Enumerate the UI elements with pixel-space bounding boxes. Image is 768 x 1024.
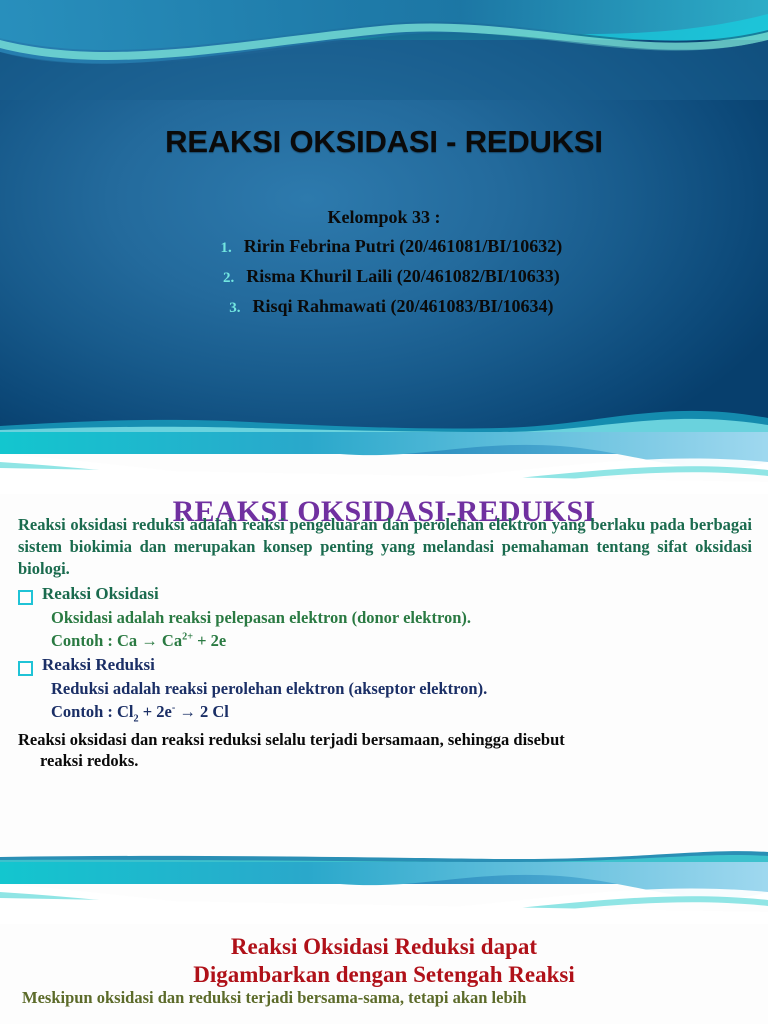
slide-2-intro-paragraph: Reaksi oksidasi reduksi adalah reaksi pe… [18,514,752,580]
reduction-example-mid: + 2e [139,702,172,721]
oxidation-example-superscript: 2+ [182,631,193,642]
list-item-label: Ririn Febrina Putri (20/461081/BI/10632) [244,236,563,257]
list-item: 1. Ririn Febrina Putri (20/461081/BI/106… [0,236,768,257]
slide-1-bottom-wave-decoration [0,392,768,432]
oxidation-definition: Oksidasi adalah reaksi pelepasan elektro… [51,608,752,628]
reduction-example: Contoh : Cl2 + 2e- → 2 Cl [51,702,752,724]
slide-2-content-slide: REAKSI OKSIDASI-REDUKSI Reaksi oksidasi … [0,432,768,862]
reduction-definition: Reduksi adalah reaksi perolehan elektron… [51,679,752,699]
list-item: 3. Risqi Rahmawati (20/461083/BI/10634) [0,296,768,317]
square-bullet-icon [18,590,33,605]
oxidation-bullet-row: Reaksi Oksidasi [18,584,752,605]
oxidation-example-tail: + 2e [193,631,226,650]
slide-2-body: Reaksi oksidasi reduksi adalah reaksi pe… [18,514,752,771]
list-item-number: 1. [206,240,232,257]
oxidation-example-label: Contoh : Ca → Ca [51,631,182,650]
slide-1-subtitle: Kelompok 33 : [0,207,768,228]
slide-1-top-wave-decoration [0,0,768,100]
list-item-label: Risma Khuril Laili (20/461082/BI/10633) [246,266,560,287]
slide-2-conclusion-line1: Reaksi oksidasi dan reaksi reduksi selal… [18,730,565,749]
oxidation-example: Contoh : Ca → Ca2+ + 2e [51,631,752,651]
slide-3-title-line2: Digambarkan dengan Setengah Reaksi [193,962,574,987]
square-bullet-icon [18,661,33,676]
slide-1-member-list: 1. Ririn Febrina Putri (20/461081/BI/106… [0,236,768,326]
slide-3-title-line1: Reaksi Oksidasi Reduksi dapat [231,934,537,959]
reduction-example-tail: → 2 Cl [175,702,229,721]
slide-2-conclusion: Reaksi oksidasi dan reaksi reduksi selal… [18,729,752,771]
list-item-number: 3. [214,300,240,317]
slide-2-conclusion-line2: reaksi redoks. [18,750,752,771]
list-item-label: Risqi Rahmawati (20/461083/BI/10634) [252,296,553,317]
slide-1-title-slide: REAKSI OKSIDASI - REDUKSI Kelompok 33 : … [0,0,768,432]
slide-deck: REAKSI OKSIDASI - REDUKSI Kelompok 33 : … [0,0,768,1024]
slide-3-top-wave-decoration [0,862,768,924]
reduction-heading: Reaksi Reduksi [42,655,155,675]
reduction-bullet-row: Reaksi Reduksi [18,655,752,676]
slide-3-title: Reaksi Oksidasi Reduksi dapat Digambarka… [0,933,768,989]
slide-2-bottom-wave-decoration [0,846,768,862]
list-item: 2. Risma Khuril Laili (20/461082/BI/1063… [0,266,768,287]
slide-3-content-slide: Reaksi Oksidasi Reduksi dapat Digambarka… [0,862,768,1024]
slide-1-title: REAKSI OKSIDASI - REDUKSI [0,124,768,160]
list-item-number: 2. [208,270,234,287]
slide-2-top-wave-decoration [0,432,768,494]
slide-3-body-paragraph: Meskipun oksidasi dan reduksi terjadi be… [22,987,746,1008]
oxidation-heading: Reaksi Oksidasi [42,584,159,604]
reduction-example-label: Contoh : Cl [51,702,134,721]
